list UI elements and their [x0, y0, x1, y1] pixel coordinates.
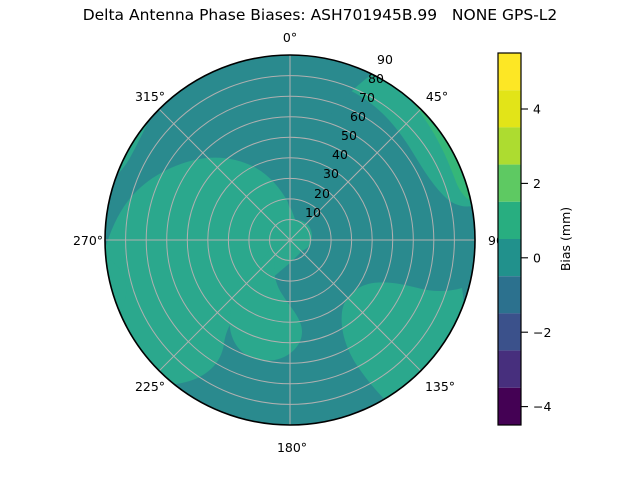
r-tick-20: 20: [314, 186, 330, 201]
r-tick-60: 60: [350, 109, 366, 124]
colorbar-band-neg5-to-neg4: [498, 388, 521, 425]
polar-plot-svg: 0° 45° 90 135° 180° 225° 270° 315° 10 20…: [0, 0, 640, 480]
colorbar-band-neg2-to-neg1: [498, 276, 521, 313]
theta-tick-315: 315°: [135, 89, 165, 104]
colorbar-band-1-to-2: [498, 165, 521, 202]
theta-tick-180: 180°: [277, 440, 307, 455]
colorbar-axis-label: Bias (mm): [558, 207, 573, 271]
colorbar-tick-label-4: 4: [533, 102, 541, 117]
colorbar-band-0-to-1: [498, 202, 521, 239]
colorbar-band-2-to-3: [498, 127, 521, 164]
colorbar-band-neg3-to-neg2: [498, 313, 521, 350]
colorbar-tick-label-2: 2: [533, 176, 541, 191]
colorbar-tick-label-neg4: −4: [533, 399, 551, 414]
theta-tick-270: 270°: [73, 233, 103, 248]
r-tick-40: 40: [332, 147, 348, 162]
colorbar-band-3-to-4: [498, 90, 521, 127]
r-tick-50: 50: [341, 128, 357, 143]
colorbar-band-neg4-to-neg3: [498, 351, 521, 388]
r-tick-10: 10: [305, 205, 321, 220]
theta-tick-0: 0°: [283, 30, 297, 45]
theta-tick-135: 135°: [425, 379, 455, 394]
figure-canvas: Delta Antenna Phase Biases: ASH701945B.9…: [0, 0, 640, 480]
theta-tick-225: 225°: [135, 379, 165, 394]
r-tick-90: 90: [377, 52, 393, 67]
r-tick-30: 30: [323, 166, 339, 181]
polar-grid: [105, 55, 475, 425]
colorbar-band-4-to-5: [498, 53, 521, 90]
region-center-blob: [280, 220, 312, 252]
r-tick-70: 70: [359, 90, 375, 105]
r-tick-80: 80: [368, 71, 384, 86]
colorbar-tick-label-0: 0: [533, 250, 541, 265]
colorbar[interactable]: 4 2 0 −2 −4 Bias (mm): [498, 53, 573, 425]
colorbar-tick-label-neg2: −2: [533, 325, 551, 340]
theta-tick-45: 45°: [426, 89, 448, 104]
colorbar-band-neg1-to-0: [498, 239, 521, 276]
